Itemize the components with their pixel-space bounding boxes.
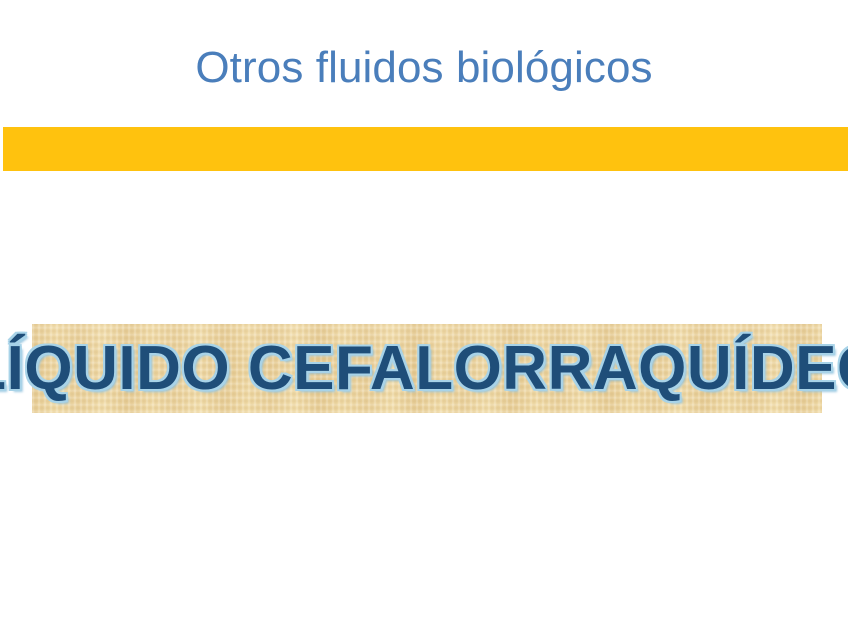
presentation-slide: Otros fluidos biológicos LÍQUIDO CEFALOR… [0,0,848,636]
page-title: Otros fluidos biológicos [0,44,848,92]
accent-divider-bar [3,127,848,171]
papyrus-title-banner: LÍQUIDO CEFALORRAQUÍDEO [32,324,822,413]
banner-title-text: LÍQUIDO CEFALORRAQUÍDEO [0,338,848,400]
